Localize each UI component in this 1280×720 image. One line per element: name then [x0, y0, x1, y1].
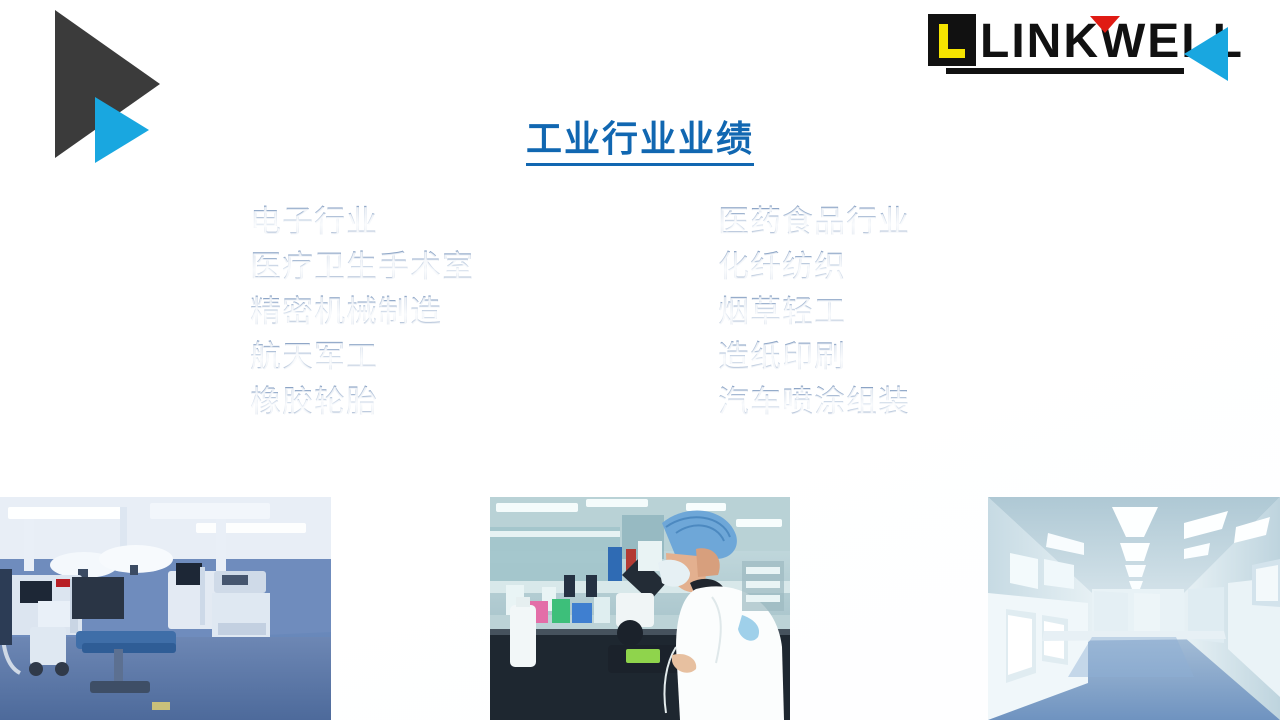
industry-item: 汽车喷涂组装 [718, 380, 910, 425]
operating-room-photo [0, 497, 331, 720]
industry-item: 橡胶轮胎 [250, 380, 474, 425]
industry-item: 精密机械制造 [250, 290, 474, 335]
logo-red-triangle-icon [1090, 16, 1120, 33]
logo-underbar [946, 68, 1184, 74]
slide-canvas: LINKWELL 工业行业业绩 电子行业 医疗卫生手术室 精密机械制造 航天军工… [0, 0, 1280, 720]
page-title: 工业行业业绩 [0, 118, 1280, 166]
laboratory-illustration [490, 497, 790, 720]
industry-item: 化纤纺织 [718, 245, 910, 290]
industry-item: 医疗卫生手术室 [250, 245, 474, 290]
industry-list: 电子行业 医疗卫生手术室 精密机械制造 航天军工 橡胶轮胎 医药食品行业 化纤纺… [0, 200, 1280, 430]
page-title-text: 工业行业业绩 [526, 118, 754, 166]
industry-item: 航天军工 [250, 335, 474, 380]
linkwell-logo: LINKWELL [928, 14, 1228, 84]
decorative-arrows [30, 0, 230, 200]
industry-item: 电子行业 [250, 200, 474, 245]
cleanroom-corridor-photo [988, 497, 1280, 720]
industry-column-left: 电子行业 医疗卫生手术室 精密机械制造 航天军工 橡胶轮胎 [250, 200, 474, 425]
logo-cyan-triangle-icon [1184, 27, 1228, 81]
laboratory-photo [490, 497, 790, 720]
industry-item: 医药食品行业 [718, 200, 910, 245]
industry-column-right: 医药食品行业 化纤纺织 烟草轻工 造纸印刷 汽车喷涂组装 [718, 200, 910, 425]
industry-item: 造纸印刷 [718, 335, 910, 380]
logo-letter-l-icon [939, 24, 965, 58]
operating-room-illustration [0, 497, 331, 720]
cleanroom-illustration [988, 497, 1280, 720]
industry-item: 烟草轻工 [718, 290, 910, 335]
